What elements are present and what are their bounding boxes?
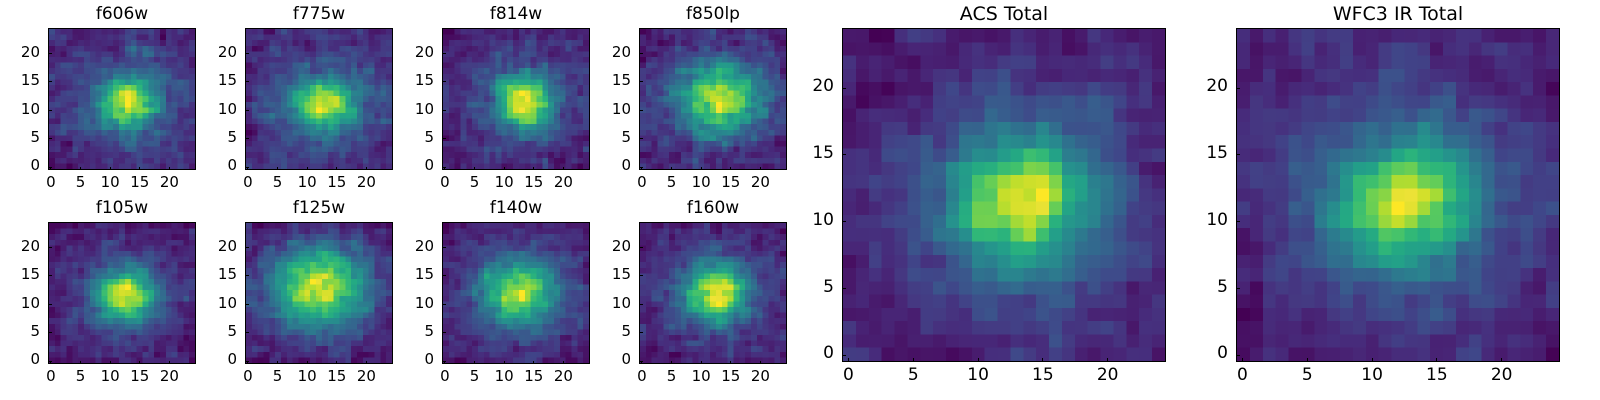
ytick-label: 20 <box>782 78 834 95</box>
ytick-mark <box>639 304 643 305</box>
ytick-label: 5 <box>579 324 631 339</box>
ytick-mark <box>842 288 846 289</box>
ytick-label: 5 <box>1176 279 1228 296</box>
ytick-mark <box>48 275 52 276</box>
ytick-mark <box>842 154 846 155</box>
xtick-label: 20 <box>1083 367 1133 384</box>
panel-title-f105w: f105w <box>48 200 196 217</box>
ytick-label: 15 <box>1176 145 1228 162</box>
panel-title-f160w: f160w <box>639 200 787 217</box>
panel-title-f140w: f140w <box>442 200 590 217</box>
ytick-mark <box>245 247 249 248</box>
xtick-mark <box>913 358 914 362</box>
ytick-label: 0 <box>382 352 434 367</box>
xtick-mark <box>474 361 475 365</box>
ytick-mark <box>245 275 249 276</box>
heatmap-image-wfc3-ir-total <box>1237 29 1559 361</box>
ytick-label: 10 <box>579 296 631 311</box>
ytick-label: 5 <box>185 324 237 339</box>
ytick-mark <box>639 332 643 333</box>
xtick-mark <box>671 361 672 365</box>
xtick-label: 15 <box>1018 367 1068 384</box>
heatmap-image-f160w <box>640 223 786 363</box>
panel-title-f125w: f125w <box>245 200 393 217</box>
xtick-mark <box>730 361 731 365</box>
xtick-mark <box>169 361 170 365</box>
ytick-mark <box>639 275 643 276</box>
ytick-label: 5 <box>382 324 434 339</box>
ytick-mark <box>639 361 643 362</box>
xtick-label: 5 <box>1282 367 1332 384</box>
xtick-mark <box>139 361 140 365</box>
ytick-mark <box>48 332 52 333</box>
ytick-mark <box>48 247 52 248</box>
ytick-mark <box>1236 288 1240 289</box>
xtick-label: 0 <box>1217 367 1267 384</box>
xtick-mark <box>277 361 278 365</box>
panel-acs-total: ACS Total0510152005101520 <box>782 0 1166 400</box>
xtick-mark <box>1107 358 1108 362</box>
ytick-label: 20 <box>1176 78 1228 95</box>
xtick-label: 10 <box>1347 367 1397 384</box>
ytick-mark <box>1236 88 1240 89</box>
ytick-mark <box>842 355 846 356</box>
ytick-label: 15 <box>0 267 40 282</box>
heatmap-axes-f105w <box>48 222 196 364</box>
heatmap-axes-f125w <box>245 222 393 364</box>
xtick-mark <box>760 361 761 365</box>
ytick-mark <box>245 332 249 333</box>
ytick-mark <box>1236 221 1240 222</box>
xtick-mark <box>533 361 534 365</box>
figure-canvas: f606w0510152005101520f775w05101520051015… <box>0 0 1600 400</box>
ytick-mark <box>442 304 446 305</box>
xtick-mark <box>1042 358 1043 362</box>
xtick-mark <box>366 361 367 365</box>
heatmap-axes-acs-total <box>842 28 1166 362</box>
ytick-label: 10 <box>185 296 237 311</box>
panel-f140w: f140w0510152005101520 <box>382 0 590 400</box>
xtick-mark <box>701 361 702 365</box>
ytick-label: 5 <box>0 324 40 339</box>
ytick-label: 15 <box>382 267 434 282</box>
ytick-label: 10 <box>382 296 434 311</box>
xtick-label: 10 <box>953 367 1003 384</box>
xtick-mark <box>848 358 849 362</box>
ytick-mark <box>442 361 446 362</box>
ytick-label: 10 <box>0 296 40 311</box>
ytick-label: 20 <box>0 239 40 254</box>
ytick-label: 0 <box>782 345 834 362</box>
ytick-label: 10 <box>1176 212 1228 229</box>
ytick-mark <box>245 361 249 362</box>
heatmap-axes-f140w <box>442 222 590 364</box>
panel-wfc3-ir-total: WFC3 IR Total0510152005101520 <box>1176 0 1560 400</box>
xtick-mark <box>1501 358 1502 362</box>
xtick-label: 20 <box>735 369 785 384</box>
ytick-mark <box>48 304 52 305</box>
ytick-label: 15 <box>579 267 631 282</box>
xtick-label: 0 <box>823 367 873 384</box>
ytick-mark <box>842 221 846 222</box>
ytick-mark <box>1236 154 1240 155</box>
ytick-label: 20 <box>185 239 237 254</box>
ytick-label: 10 <box>782 212 834 229</box>
heatmap-image-f140w <box>443 223 589 363</box>
ytick-mark <box>442 332 446 333</box>
xtick-mark <box>563 361 564 365</box>
ytick-label: 15 <box>782 145 834 162</box>
heatmap-axes-wfc3-ir-total <box>1236 28 1560 362</box>
ytick-label: 0 <box>579 352 631 367</box>
ytick-mark <box>48 361 52 362</box>
panel-f160w: f160w0510152005101520 <box>579 0 787 400</box>
ytick-label: 20 <box>579 239 631 254</box>
panel-title-acs-total: ACS Total <box>842 5 1166 24</box>
xtick-label: 15 <box>1412 367 1462 384</box>
heatmap-image-f105w <box>49 223 195 363</box>
xtick-mark <box>307 361 308 365</box>
xtick-mark <box>110 361 111 365</box>
xtick-label: 20 <box>1477 367 1527 384</box>
xtick-mark <box>1307 358 1308 362</box>
xtick-mark <box>80 361 81 365</box>
ytick-mark <box>1236 355 1240 356</box>
xtick-mark <box>1436 358 1437 362</box>
xtick-mark <box>504 361 505 365</box>
ytick-mark <box>639 247 643 248</box>
heatmap-image-acs-total <box>843 29 1165 361</box>
xtick-label: 5 <box>888 367 938 384</box>
ytick-mark <box>442 275 446 276</box>
ytick-label: 0 <box>185 352 237 367</box>
panel-title-wfc3-ir-total: WFC3 IR Total <box>1236 5 1560 24</box>
xtick-mark <box>336 361 337 365</box>
ytick-label: 0 <box>0 352 40 367</box>
ytick-mark <box>842 88 846 89</box>
ytick-mark <box>442 247 446 248</box>
panel-f105w: f105w0510152005101520 <box>0 0 196 400</box>
ytick-label: 20 <box>382 239 434 254</box>
ytick-mark <box>245 304 249 305</box>
xtick-mark <box>1372 358 1373 362</box>
panel-f125w: f125w0510152005101520 <box>185 0 393 400</box>
heatmap-axes-f160w <box>639 222 787 364</box>
ytick-label: 0 <box>1176 345 1228 362</box>
heatmap-image-f125w <box>246 223 392 363</box>
xtick-mark <box>1242 358 1243 362</box>
xtick-mark <box>978 358 979 362</box>
ytick-label: 5 <box>782 279 834 296</box>
ytick-label: 15 <box>185 267 237 282</box>
